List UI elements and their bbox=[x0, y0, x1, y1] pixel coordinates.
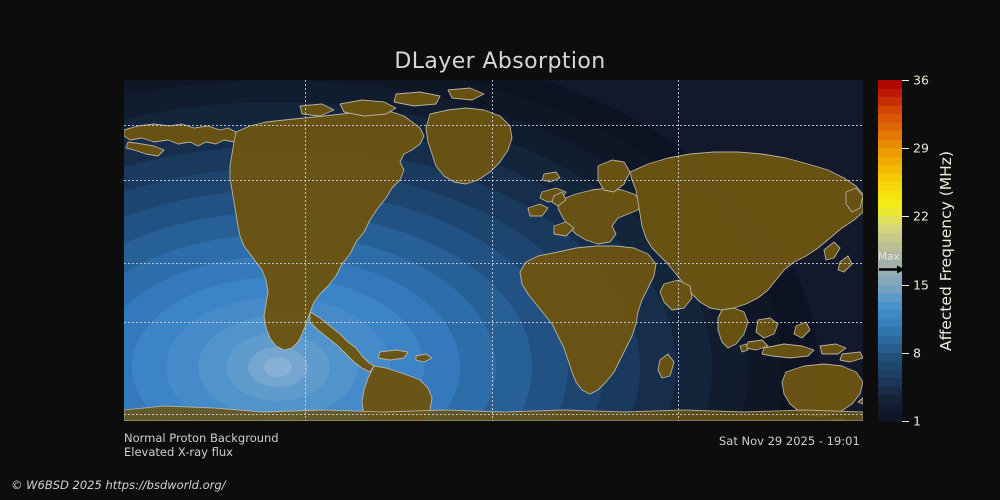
world-map[interactable] bbox=[124, 80, 863, 421]
colorbar-tick bbox=[902, 421, 909, 422]
colorbar-tick-label: 1 bbox=[913, 414, 921, 429]
colorbar-tick-label: 15 bbox=[913, 277, 929, 292]
dlayer-absorption-page: DLayer Absorption bbox=[0, 0, 1000, 500]
colorbar-axis-label: Affected Frequency (MHz) bbox=[932, 80, 960, 421]
credit-footer: © W6BSD 2025 https://bsdworld.org/ bbox=[11, 478, 226, 492]
colorbar-tick bbox=[902, 80, 909, 81]
note-proton-background: Normal Proton Background bbox=[124, 431, 279, 445]
colorbar-tick-label: 8 bbox=[913, 345, 921, 360]
note-xray-flux: Elevated X-ray flux bbox=[124, 445, 233, 459]
timestamp: Sat Nov 29 2025 - 19:01 bbox=[719, 434, 860, 448]
colorbar-tick-label: 29 bbox=[913, 141, 929, 156]
colorbar-max-marker: Max bbox=[878, 252, 912, 278]
colorbar-tick bbox=[902, 285, 909, 286]
colorbar-tick bbox=[902, 216, 909, 217]
colorbar-tick bbox=[902, 353, 909, 354]
colorbar-tick-label: 22 bbox=[913, 209, 929, 224]
colorbar-tick bbox=[902, 148, 909, 149]
colorbar-segment bbox=[878, 412, 902, 421]
colorbar-tick-label: 36 bbox=[913, 73, 929, 88]
map-canvas bbox=[124, 80, 863, 421]
max-arrow-icon bbox=[879, 265, 905, 274]
page-title: DLayer Absorption bbox=[0, 49, 1000, 74]
colorbar-max-label: Max bbox=[878, 252, 900, 263]
